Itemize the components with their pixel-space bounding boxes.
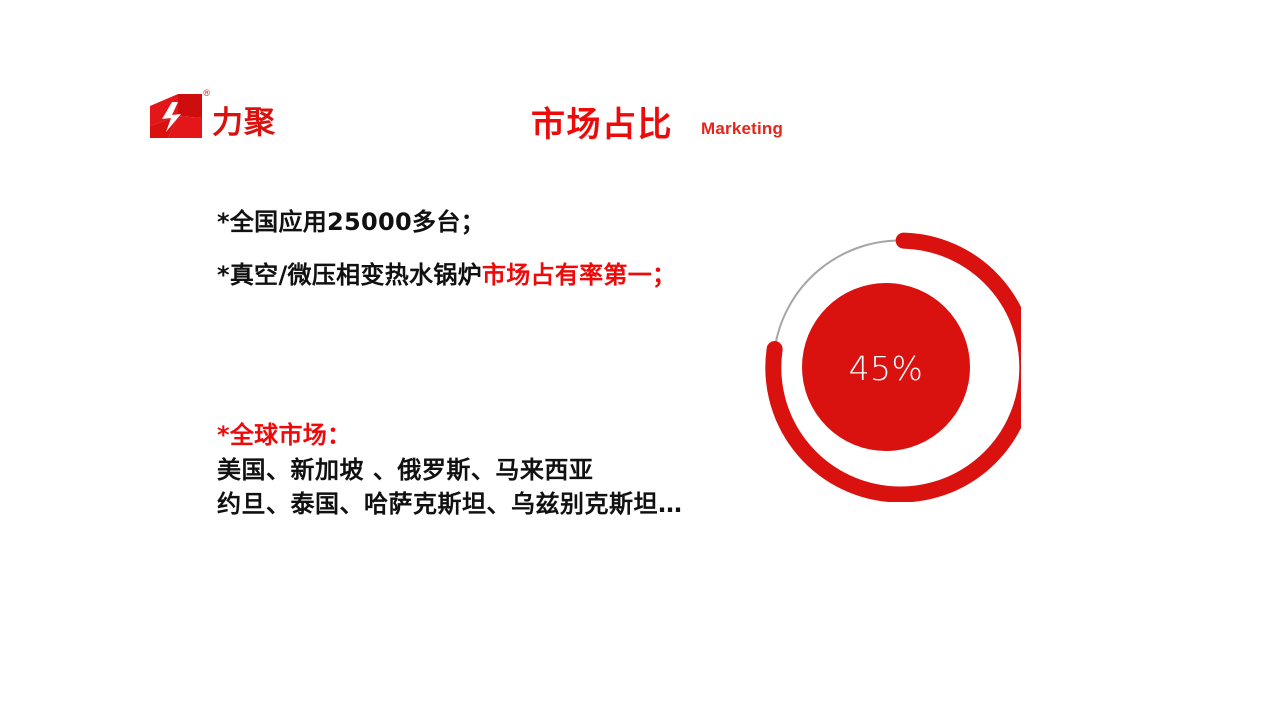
- bullet-market-share-first: *真空/微压相变热水锅炉市场占有率第一；: [217, 259, 687, 292]
- global-market-countries-line-2: 约旦、泰国、哈萨克斯坦、乌兹别克斯坦…: [217, 487, 777, 521]
- bullet-list: *全国应用25000多台； *真空/微压相变热水锅炉市场占有率第一；: [217, 206, 687, 292]
- bullet-domestic-units: *全国应用25000多台；: [217, 206, 687, 239]
- donut-inner-disc: [802, 283, 970, 451]
- global-market-heading: *全球市场：: [217, 419, 777, 451]
- registered-trademark-symbol: ®: [203, 89, 210, 98]
- slide-canvas: ® 力聚 市场占比 Marketing *全国应用25000多台； *真空/微压…: [0, 0, 1280, 720]
- global-market-block: *全球市场： 美国、新加坡 、俄罗斯、马来西亚 约旦、泰国、哈萨克斯坦、乌兹别克…: [217, 419, 777, 522]
- slide-title-row: 市场占比 Marketing: [531, 108, 783, 142]
- company-logo: ® 力聚: [148, 92, 276, 142]
- logo-wordmark: 力聚: [212, 108, 276, 142]
- market-share-donut-chart: 45%: [751, 232, 1021, 502]
- lijv-lightning-bolt-mark-icon: ®: [148, 92, 204, 142]
- bullet-text-black: *真空/微压相变热水锅炉: [217, 261, 482, 289]
- bullet-text-highlight: 市场占有率第一；: [482, 261, 676, 289]
- global-market-countries-line-1: 美国、新加坡 、俄罗斯、马来西亚: [217, 453, 777, 487]
- bullet-text-black: *全国应用25000多台；: [217, 208, 485, 236]
- page-subtitle: Marketing: [701, 120, 783, 137]
- page-title: 市场占比: [531, 108, 673, 142]
